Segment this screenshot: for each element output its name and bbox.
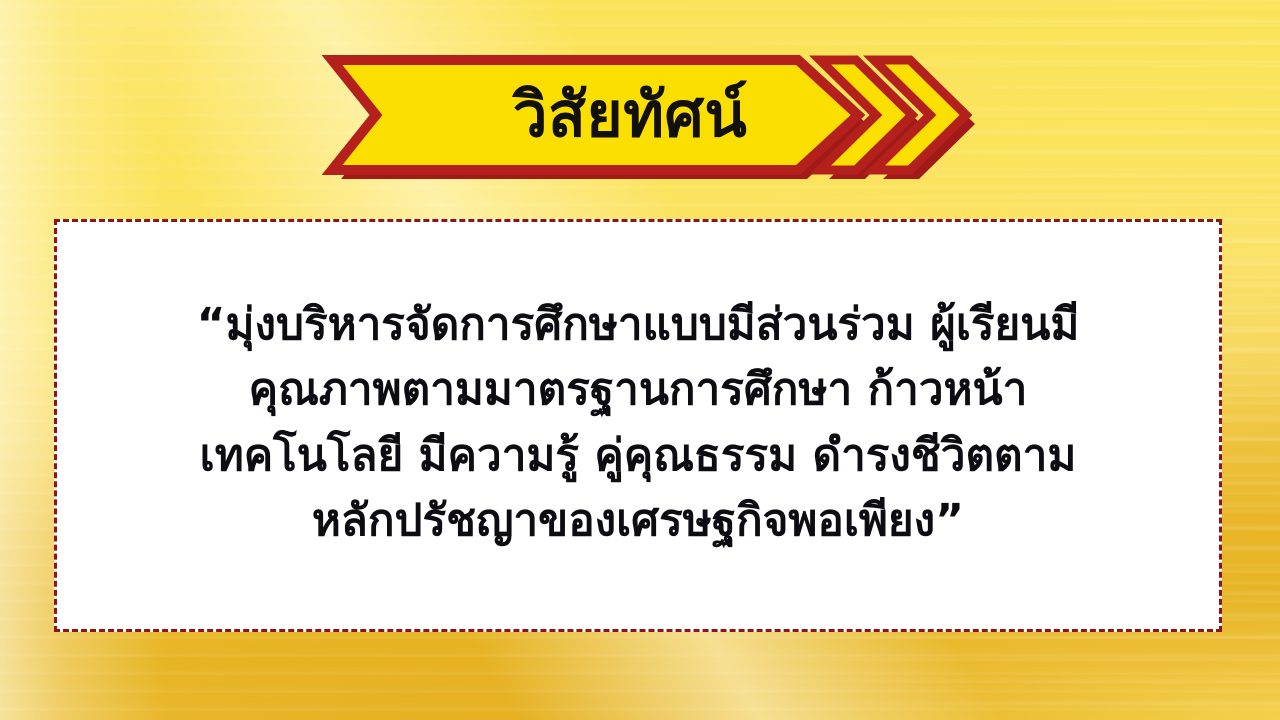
presentation-slide: วิสัยทัศน์ “มุ่งบริหารจัดการศึกษาแบบมีส่… (0, 0, 1280, 720)
title-banner: วิสัยทัศน์ (328, 56, 936, 174)
vision-line: เทคโนโลยี มีความรู้ คู่คุณธรรม ดำรงชีวิต… (71, 423, 1205, 488)
vision-line: “มุ่งบริหารจัดการศึกษาแบบมีส่วนร่วม ผู้เ… (71, 292, 1205, 357)
vision-statement-box: “มุ่งบริหารจัดการศึกษาแบบมีส่วนร่วม ผู้เ… (54, 219, 1222, 632)
vision-statement-text: “มุ่งบริหารจัดการศึกษาแบบมีส่วนร่วม ผู้เ… (71, 292, 1205, 552)
page-title: วิสัยทัศน์ (386, 56, 874, 174)
vision-line: หลักปรัชญาของเศรษฐกิจพอเพียง” (71, 488, 1205, 553)
vision-line: คุณภาพตามมาตรฐานการศึกษา ก้าวหน้า (71, 357, 1205, 422)
